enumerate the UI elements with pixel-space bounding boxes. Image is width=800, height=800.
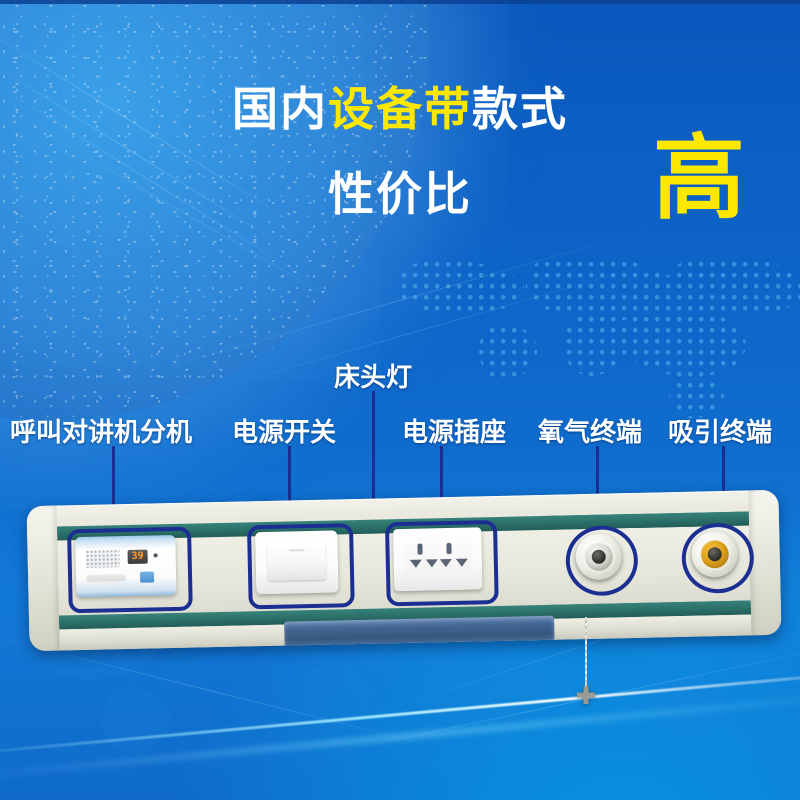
callout-label-power-switch: 电源开关 — [232, 412, 336, 449]
pull-cord-handle-icon[interactable] — [577, 686, 595, 704]
highlight-box-power-switch — [247, 523, 355, 609]
bed-lamp-pull-cord[interactable] — [585, 617, 587, 695]
highlight-box-intercom — [67, 527, 193, 614]
poster-stage: 国内设备带款式 性价比 高 呼叫对讲机分机 电源开关 床头灯 电源插座 氧气终端… — [0, 0, 800, 800]
highlight-box-power-socket — [385, 520, 499, 606]
callout-label-power-socket: 电源插座 — [402, 412, 506, 449]
callout-label-intercom: 呼叫对讲机分机 — [10, 412, 192, 449]
callout-label-bed-lamp: 床头灯 — [334, 357, 412, 394]
panel-end-cap-left — [27, 506, 60, 652]
medical-bed-head-unit: 39 — [27, 490, 782, 651]
callout-label-suction-outlet: 吸引终端 — [668, 412, 772, 449]
callout-label-oxygen-outlet: 氧气终端 — [538, 412, 642, 449]
callout-layer: 呼叫对讲机分机 电源开关 床头灯 电源插座 氧气终端 吸引终端 — [0, 0, 800, 800]
